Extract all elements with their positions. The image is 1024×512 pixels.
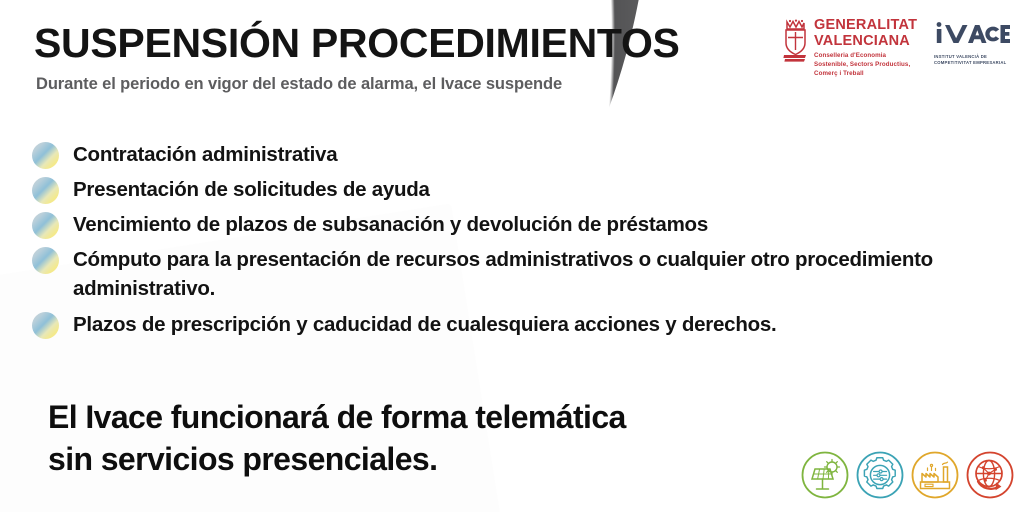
list-item-label: Plazos de prescripción y caducidad de cu… [73,310,776,339]
closing-line-2: sin servicios presenciales. [48,438,626,480]
ivace-wordmark-icon [934,33,1010,50]
list-item: Contratación administrativa [30,140,990,169]
logo-group: GENERALITAT VALENCIANA Conselleria d'Eco… [782,18,1010,79]
generalitat-department-text: Conselleria d'Economia Sostenible, Secto… [814,52,918,79]
ivace-logo: INSTITUT VALENCIÀ DE COMPETITIVITAT EMPR… [934,20,1010,67]
generalitat-valenciana-logo: GENERALITAT VALENCIANA Conselleria d'Eco… [782,18,918,79]
gradient-circle-bullet-icon [32,142,59,169]
generalitat-logo-line1: GENERALITAT [814,18,918,33]
gear-icon [854,449,906,506]
closing-line-1: El Ivace funcionará de forma telemática [48,396,626,438]
globe-arrow-icon [964,449,1016,506]
generalitat-logo-line2: VALENCIANA [814,34,918,49]
factory-icon [909,449,961,506]
poster-header: SUSPENSIÓN PROCEDIMIENTOS Durante el per… [34,22,774,94]
list-item-label: Contratación administrativa [73,140,337,169]
gradient-circle-bullet-icon [32,212,59,239]
ivace-subtitle-text: INSTITUT VALENCIÀ DE COMPETITIVITAT EMPR… [934,54,1008,67]
list-item: Cómputo para la presentación de recursos… [30,245,990,303]
gradient-circle-bullet-icon [32,247,59,274]
page-title: SUSPENSIÓN PROCEDIMIENTOS [34,22,774,65]
closing-statement: El Ivace funcionará de forma telemática … [48,396,626,480]
suspension-list: Contratación administrativa Presentación… [30,140,990,345]
sector-icon-group [799,449,1016,506]
generalitat-valenciana-shield-icon [782,19,809,68]
list-item-label: Presentación de solicitudes de ayuda [73,175,430,204]
page-subtitle: Durante el periodo en vigor del estado d… [36,75,774,94]
list-item: Vencimiento de plazos de subsanación y d… [30,210,990,239]
list-item: Plazos de prescripción y caducidad de cu… [30,310,990,339]
poster-canvas: SUSPENSIÓN PROCEDIMIENTOS Durante el per… [0,0,1024,512]
gradient-circle-bullet-icon [32,312,59,339]
list-item-label: Cómputo para la presentación de recursos… [73,245,973,303]
solar-panel-icon [799,449,851,506]
list-item-label: Vencimiento de plazos de subsanación y d… [73,210,708,239]
list-item: Presentación de solicitudes de ayuda [30,175,990,204]
gradient-circle-bullet-icon [32,177,59,204]
